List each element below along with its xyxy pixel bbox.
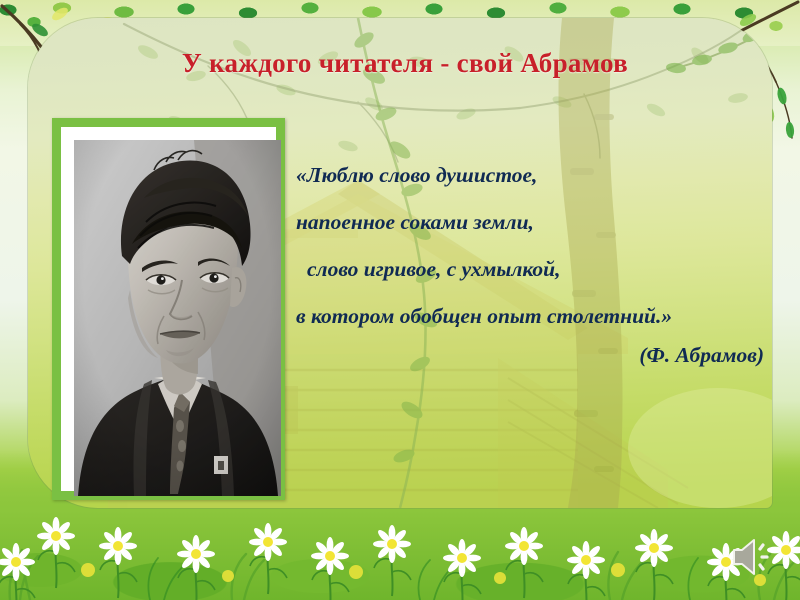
speaker-icon[interactable] xyxy=(730,536,776,578)
page-title: У каждого читателя - свой Абрамов xyxy=(60,48,750,79)
portrait-frame xyxy=(52,118,285,500)
quote-block: «Люблю слово душистое, напоенное соками … xyxy=(296,152,766,340)
quote-line: в котором обобщен опыт столетний.» xyxy=(296,293,766,340)
portrait-photo xyxy=(74,140,281,496)
quote-line: слово игривое, с ухмылкой, xyxy=(296,246,766,293)
slide-canvas: У каждого читателя - свой Абрамов xyxy=(0,0,800,600)
quote-attribution: (Ф. Абрамов) xyxy=(296,343,764,368)
quote-line: напоенное соками земли, xyxy=(296,199,766,246)
portrait-mat xyxy=(61,127,276,491)
quote-line: «Люблю слово душистое, xyxy=(296,152,766,199)
